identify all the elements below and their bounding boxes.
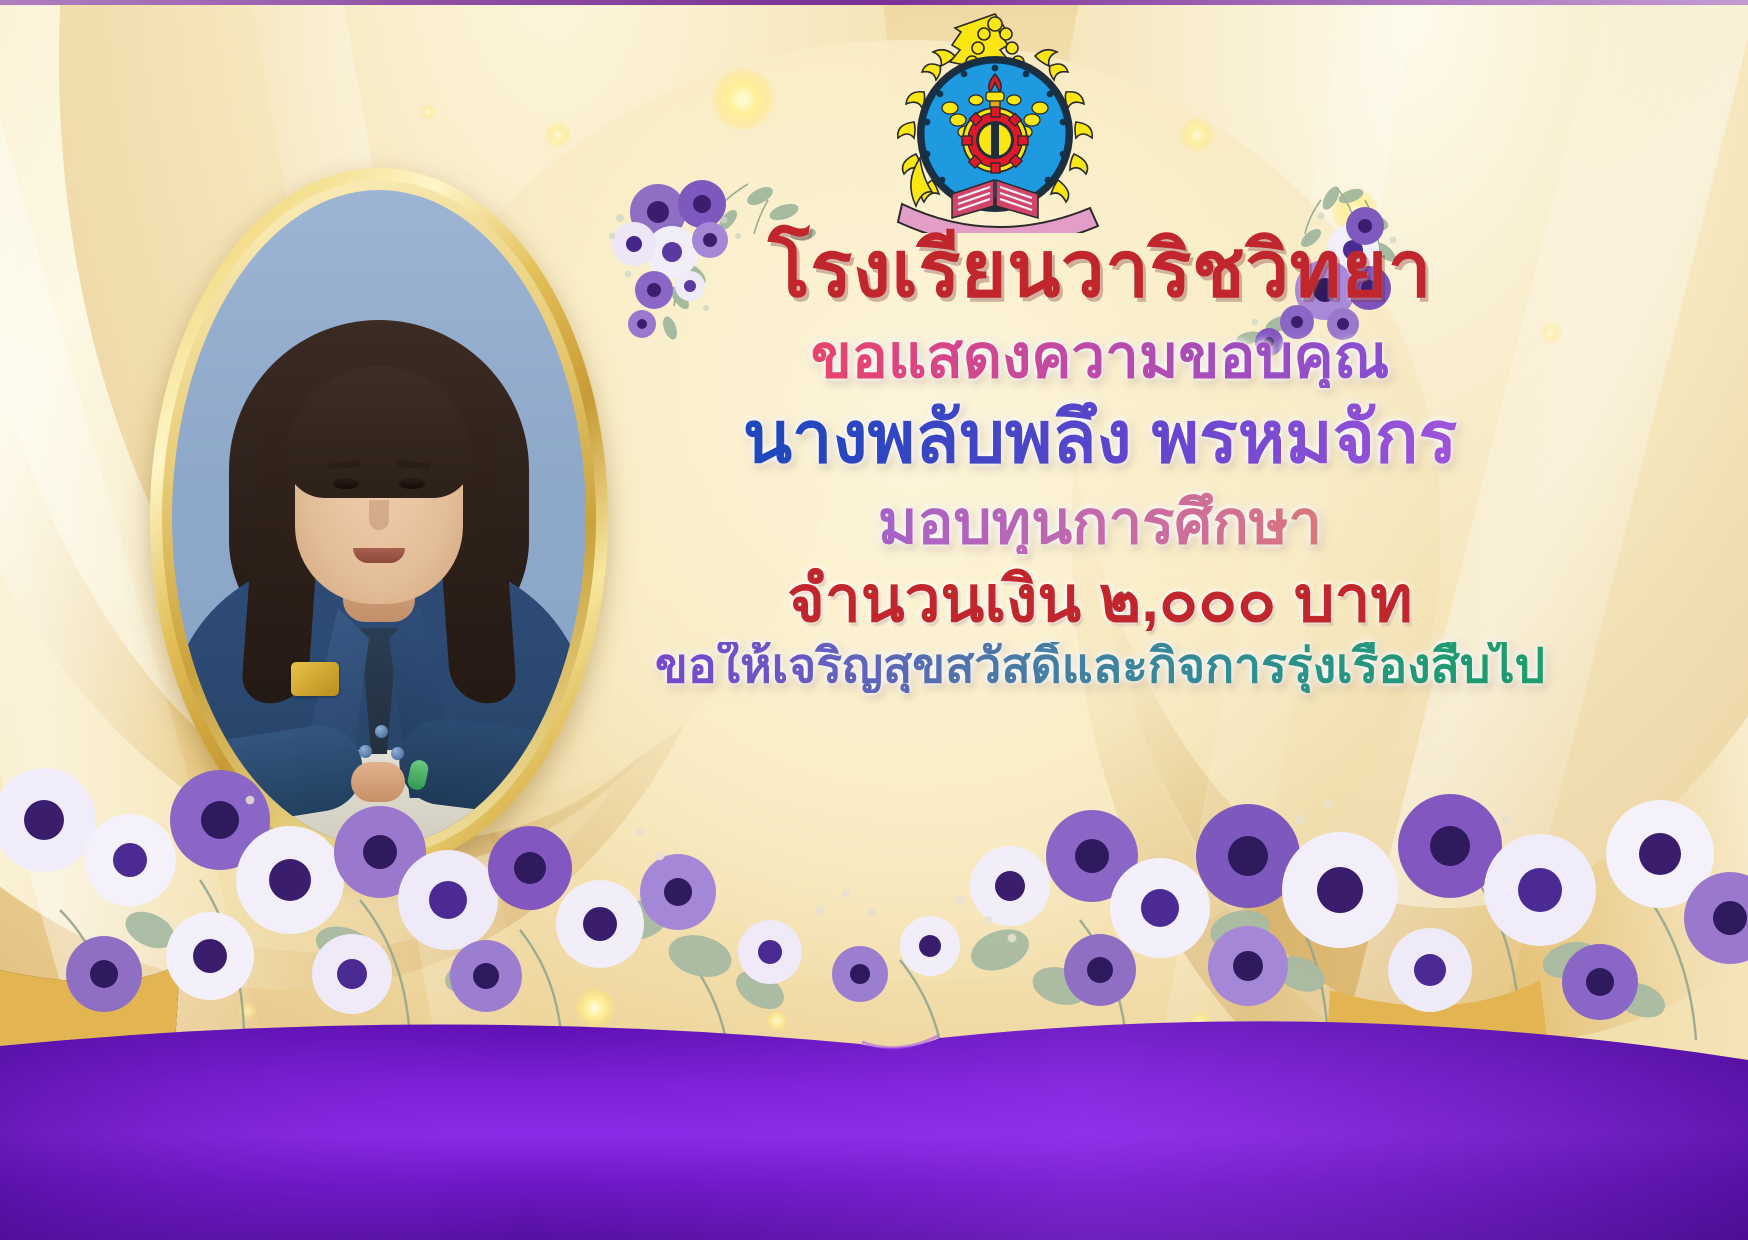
donor-name: นางพลับพลึง พรหมจักร	[600, 400, 1600, 476]
wish-line: ขอให้เจริญสุขสวัสดิ์และกิจการรุ่งเรืองสื…	[600, 642, 1600, 693]
thanks-line: ขอแสดงความขอบคุณ	[600, 325, 1600, 389]
donor-photo	[172, 190, 586, 846]
portrait-frame	[150, 168, 608, 868]
message-block: โรงเรียนวาริชวิทยา ขอแสดงความขอบคุณ นางพ…	[600, 228, 1600, 693]
top-purple-edge	[0, 0, 1748, 5]
thank-you-poster: โรงเรียนวาริชวิทยา ขอแสดงความขอบคุณ นางพ…	[0, 0, 1748, 1240]
school-name-heading: โรงเรียนวาริชวิทยา	[600, 228, 1600, 311]
bottom-purple-band	[0, 1020, 1748, 1240]
grant-line: มอบทุนการศึกษา	[600, 491, 1600, 555]
amount-line: จำนวนเงิน ๒,๐๐๐ บาท	[600, 566, 1600, 634]
school-logo-icon	[880, 8, 1110, 233]
